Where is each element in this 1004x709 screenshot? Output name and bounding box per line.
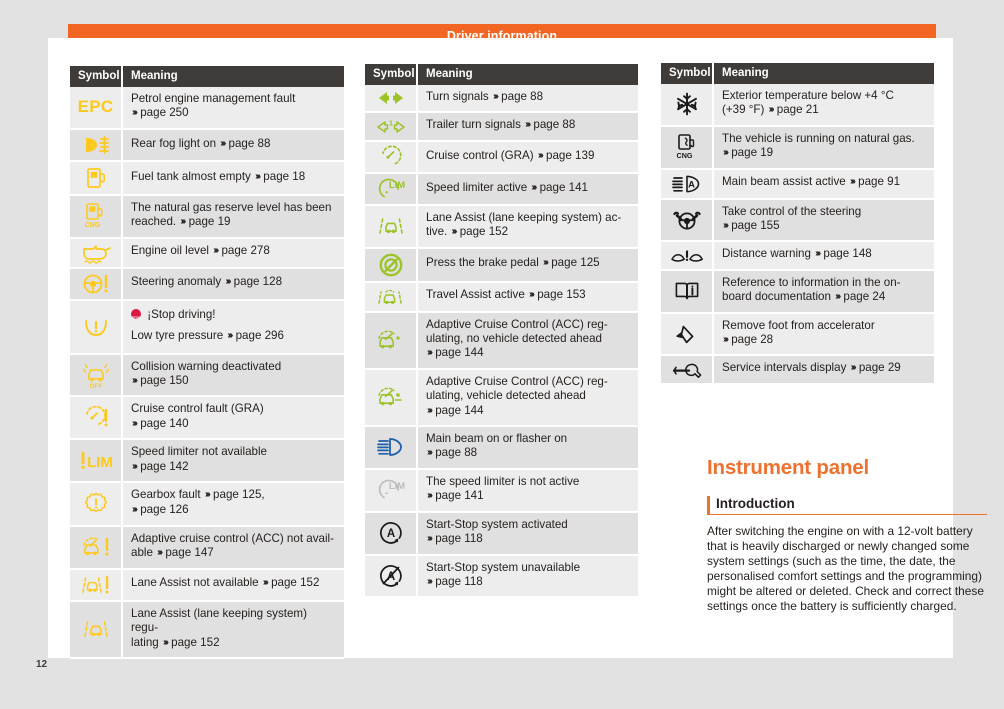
table-row: Gearbox fault ››› page 125,››› page 126 [70,483,344,527]
meaning-line: Cruise control fault (GRA) [131,402,336,416]
meaning-line: ››› page 142 [131,460,336,475]
meaning-line: ››› page 150 [131,374,336,389]
main-beam-icon [365,427,418,468]
meaning-line: ulating, vehicle detected ahead [426,389,630,403]
table-row: AMain beam assist active ››› page 91 [661,170,934,200]
cng-reserve-icon: CNG [70,196,123,237]
meaning-line: The vehicle is running on natural gas. [722,132,926,146]
table-row: Take control of the steering››› page 155 [661,200,934,243]
remove-foot-accelerator-icon [661,314,714,355]
page-ref-arrows: ››› [834,290,840,304]
meaning-line: ››› page 144 [426,346,630,361]
meaning-line: Fuel tank almost empty ››› page 18 [131,170,336,185]
meaning-cell: Start-Stop system unavailable››› page 11… [418,556,638,597]
table-row: Travel Assist active ››› page 153 [365,283,638,313]
lane-assist-na-icon [70,570,123,600]
meaning-cell: Lane Assist (lane keeping system) regu-l… [123,602,344,657]
column-header-meaning: Meaning [123,66,344,87]
table-row: Lane Assist not available ››› page 152 [70,570,344,602]
meaning-line: ¡Stop driving! [131,308,336,322]
steering-anomaly-icon [70,269,123,299]
meaning-cell: Speed limiter active ››› page 141 [418,174,638,204]
section-heading-block: Introduction [707,496,987,515]
meaning-cell: The speed limiter is not active››› page … [418,470,638,511]
onboard-documentation-icon [661,271,714,312]
page-ref-arrows: ››› [131,106,137,120]
meaning-cell: Take control of the steering››› page 155 [714,200,934,241]
meaning-line: Reference to information in the on- [722,276,926,290]
meaning-line: Service intervals display ››› page 29 [722,361,926,376]
meaning-line: Travel Assist active ››› page 153 [426,288,630,303]
page-ref-arrows: ››› [156,546,162,560]
meaning-line: ››› page 141 [426,489,630,504]
table-row: Turn signals ››› page 88 [365,85,638,113]
meaning-cell: Adaptive cruise control (ACC) not avail-… [123,527,344,568]
meaning-cell: Lane Assist not available ››› page 152 [123,570,344,600]
speed-limiter-active-icon: LIM [365,174,418,204]
meaning-line: Adaptive cruise control (ACC) not avail- [131,532,336,546]
meaning-line: ››› page 155 [722,219,926,234]
lane-assist-reg-icon [70,602,123,657]
svg-text:CNG: CNG [84,222,100,229]
page-ref-arrows: ››› [262,576,268,590]
take-control-steering-icon [661,200,714,241]
page-ref-arrows: ››› [131,374,137,388]
meaning-line: ››› page 250 [131,106,336,121]
table-row: Cruise control fault (GRA)››› page 140 [70,397,344,440]
meaning-line: Turn signals ››› page 88 [426,90,630,105]
meaning-line: (+39 °F) ››› page 21 [722,103,926,118]
table-row: Exterior temperature below +4 °C(+39 °F)… [661,84,934,127]
meaning-cell: Main beam assist active ››› page 91 [714,170,934,198]
table-row: Press the brake pedal ››› page 125 [365,249,638,283]
page-ref-arrows: ››› [537,149,543,163]
start-stop-active-icon: A [365,513,418,554]
page-ref-arrows: ››› [179,215,185,229]
meaning-line: Adaptive Cruise Control (ACC) reg- [426,318,630,332]
meaning-cell: Service intervals display ››› page 29 [714,356,934,382]
page-ref-arrows: ››› [492,90,498,104]
meaning-line: ››› page 88 [426,446,630,461]
page-ref-arrows: ››› [426,489,432,503]
page-ref-arrows: ››› [524,118,530,132]
table-row: Distance warning ››› page 148 [661,242,934,270]
collision-warning-off-icon: OFF [70,355,123,396]
table-row: Rear fog light on ››› page 88 [70,130,344,162]
lane-assist-active-icon [365,206,418,247]
page-ref-arrows: ››› [542,256,548,270]
table-row: Cruise control (GRA) ››› page 139 [365,142,638,174]
tyre-pressure-icon [70,301,123,353]
column-header-symbol: Symbol [365,64,418,85]
meaning-line: ››› page 118 [426,575,630,590]
meaning-cell: Adaptive Cruise Control (ACC) reg-ulatin… [418,313,638,368]
column-header-symbol: Symbol [661,63,714,84]
travel-assist-icon [365,283,418,311]
svg-text:A: A [386,528,394,540]
meaning-cell: ¡Stop driving!Low tyre pressure ››› page… [123,301,344,353]
meaning-cell: Press the brake pedal ››› page 125 [418,249,638,281]
table-header-row: SymbolMeaning [365,64,638,85]
trailer-turn-signals-icon: 1 [365,113,418,139]
table-row: LIMSpeed limiter active ››› page 141 [365,174,638,206]
table-row: LIMThe speed limiter is not active››› pa… [365,470,638,513]
cruise-control-icon [365,142,418,172]
meaning-line: Engine oil level ››› page 278 [131,244,336,259]
turn-signals-icon [365,85,418,111]
table-warning-lamps-yellow: SymbolMeaningEPCPetrol engine management… [70,66,344,659]
svg-text:LIM: LIM [87,454,113,471]
snowflake-icon [661,84,714,125]
meaning-line: Remove foot from accelerator [722,319,926,333]
table-row: Steering anomaly ››› page 128 [70,269,344,301]
start-stop-unavailable-icon: A [365,556,418,597]
svg-text:OFF: OFF [89,383,102,389]
manual-page: SymbolMeaningEPCPetrol engine management… [48,38,953,658]
page-ref-arrows: ››› [131,460,137,474]
service-intervals-icon [661,356,714,382]
meaning-line: The speed limiter is not active [426,475,630,489]
meaning-cell: The natural gas reserve level has beenre… [123,196,344,237]
acc-not-available-icon [70,527,123,568]
section-heading: Introduction [716,496,987,511]
meaning-line: ››› page 144 [426,404,630,419]
meaning-cell: Remove foot from accelerator››› page 28 [714,314,934,355]
meaning-line: Press the brake pedal ››› page 125 [426,256,630,271]
table-row: Lane Assist (lane keeping system) regu-l… [70,602,344,659]
article-instrument-panel: Instrument panel Introduction After swit… [707,456,987,613]
table-header-row: SymbolMeaning [661,63,934,84]
press-brake-pedal-icon [365,249,418,281]
meaning-line: tive. ››› page 152 [426,225,630,240]
meaning-cell: Speed limiter not available››› page 142 [123,440,344,481]
meaning-line: Start-Stop system unavailable [426,561,630,575]
meaning-line: Trailer turn signals ››› page 88 [426,118,630,133]
table-row: CNGThe natural gas reserve level has bee… [70,196,344,239]
table-row: Adaptive cruise control (ACC) not avail-… [70,527,344,570]
article-body: After switching the engine on with a 12-… [707,524,987,613]
rear-fog-light-icon [70,130,123,160]
page-ref-arrows: ››› [162,636,168,650]
meaning-cell: Distance warning ››› page 148 [714,242,934,268]
page-ref-arrows: ››› [426,575,432,589]
table-info-lamps-black: SymbolMeaningExterior temperature below … [661,63,934,385]
page-ref-arrows: ››› [768,103,774,117]
meaning-line: Steering anomaly ››› page 128 [131,275,336,290]
cng-running-icon: CNG [661,127,714,168]
meaning-line: Main beam on or flasher on [426,432,630,446]
meaning-cell: Cruise control (GRA) ››› page 139 [418,142,638,172]
meaning-cell: Trailer turn signals ››› page 88 [418,113,638,139]
meaning-cell: Rear fog light on ››› page 88 [123,130,344,160]
table-row: 1Trailer turn signals ››› page 88 [365,113,638,141]
meaning-line: ››› page 28 [722,333,926,348]
page-ref-arrows: ››› [814,247,820,261]
table-row: Service intervals display ››› page 29 [661,356,934,384]
meaning-cell: Fuel tank almost empty ››› page 18 [123,162,344,194]
meaning-line: Rear fog light on ››› page 88 [131,137,336,152]
stop-driving-badge-icon [131,309,141,319]
page-ref-arrows: ››› [426,404,432,418]
table-row: Adaptive Cruise Control (ACC) reg-ulatin… [365,370,638,427]
table-row: Remove foot from accelerator››› page 28 [661,314,934,357]
meaning-cell: Turn signals ››› page 88 [418,85,638,111]
meaning-line: board documentation ››› page 24 [722,290,926,305]
svg-text:LIM: LIM [388,481,404,492]
table-row: Engine oil level ››› page 278 [70,239,344,269]
table-row: Reference to information in the on-board… [661,271,934,314]
article-title: Instrument panel [707,456,987,480]
page-ref-arrows: ››› [530,181,536,195]
page-ref-arrows: ››› [219,137,225,151]
meaning-line: Speed limiter active ››› page 141 [426,181,630,196]
meaning-line: Main beam assist active ››› page 91 [722,175,926,190]
meaning-line: Take control of the steering [722,205,926,219]
svg-text:CNG: CNG [676,151,692,160]
meaning-cell: Reference to information in the on-board… [714,271,934,312]
meaning-line: Lane Assist (lane keeping system) ac- [426,211,630,225]
table-row: Adaptive Cruise Control (ACC) reg-ulatin… [365,313,638,370]
meaning-cell: Steering anomaly ››› page 128 [123,269,344,299]
acc-vehicle-icon [365,370,418,425]
page-ref-arrows: ››› [426,346,432,360]
meaning-line: The natural gas reserve level has been [131,201,336,215]
meaning-line: lating ››› page 152 [131,636,336,651]
meaning-line: ››› page 118 [426,532,630,547]
cruise-control-fault-icon [70,397,123,438]
column-header-meaning: Meaning [418,64,638,85]
meaning-line: able ››› page 147 [131,546,336,561]
table-row: EPCPetrol engine management fault››› pag… [70,87,344,130]
meaning-line: ››› page 19 [722,146,926,161]
meaning-line: Collision warning deactivated [131,360,336,374]
meaning-line: Start-Stop system activated [426,518,630,532]
meaning-line: Gearbox fault ››› page 125, [131,488,336,503]
page-ref-arrows: ››› [426,446,432,460]
meaning-cell: Adaptive Cruise Control (ACC) reg-ulatin… [418,370,638,425]
table-row: AStart-Stop system activated››› page 118 [365,513,638,556]
table-row: Lane Assist (lane keeping system) ac-tiv… [365,206,638,249]
meaning-cell: Collision warning deactivated››› page 15… [123,355,344,396]
meaning-cell: The vehicle is running on natural gas.››… [714,127,934,168]
meaning-line: ››› page 126 [131,503,336,518]
page-ref-arrows: ››› [212,244,218,258]
page-ref-arrows: ››› [224,275,230,289]
meaning-line: Low tyre pressure ››› page 296 [131,329,336,344]
meaning-line: Distance warning ››› page 148 [722,247,926,262]
meaning-cell: Travel Assist active ››› page 153 [418,283,638,311]
meaning-cell: Exterior temperature below +4 °C(+39 °F)… [714,84,934,125]
meaning-line: Speed limiter not available [131,445,336,459]
meaning-cell: Lane Assist (lane keeping system) ac-tiv… [418,206,638,247]
distance-warning-icon [661,242,714,268]
svg-text:A: A [688,178,695,189]
meaning-cell: Gearbox fault ››› page 125,››› page 126 [123,483,344,525]
page-ref-arrows: ››› [426,532,432,546]
meaning-line: Petrol engine management fault [131,92,336,106]
acc-no-vehicle-icon [365,313,418,368]
page-ref-arrows: ››› [722,146,728,160]
column-header-meaning: Meaning [714,63,934,84]
table-row: OFFCollision warning deactivated››› page… [70,355,344,398]
meaning-line: Adaptive Cruise Control (ACC) reg- [426,375,630,389]
page-ref-arrows: ››› [722,333,728,347]
column-header-symbol: Symbol [70,66,123,87]
meaning-line: Lane Assist (lane keeping system) regu- [131,607,336,636]
page-ref-arrows: ››› [131,417,137,431]
table-row: Main beam on or flasher on››› page 88 [365,427,638,470]
speed-limiter-na-icon: LIM [70,440,123,481]
page-ref-arrows: ››› [849,175,855,189]
meaning-line: Lane Assist not available ››› page 152 [131,576,336,591]
engine-oil-level-icon [70,239,123,267]
epc-icon: EPC [70,87,123,128]
table-row: ¡Stop driving!Low tyre pressure ››› page… [70,301,344,355]
fuel-tank-icon [70,162,123,194]
table-row: CNGThe vehicle is running on natural gas… [661,127,934,170]
page-ref-arrows: ››› [850,361,856,375]
svg-text:1: 1 [389,120,393,127]
meaning-cell: Petrol engine management fault››› page 2… [123,87,344,128]
page-ref-arrows: ››› [528,288,534,302]
page-ref-arrows: ››› [450,225,456,239]
meaning-cell: Main beam on or flasher on››› page 88 [418,427,638,468]
meaning-line: Exterior temperature below +4 °C [722,89,926,103]
table-row: LIMSpeed limiter not available››› page 1… [70,440,344,483]
meaning-line: ››› page 140 [131,417,336,432]
table-row: AStart-Stop system unavailable››› page 1… [365,556,638,599]
main-beam-assist-icon: A [661,170,714,198]
page-ref-arrows: ››› [254,170,260,184]
gearbox-fault-icon [70,483,123,525]
table-row: Fuel tank almost empty ››› page 18 [70,162,344,196]
page-ref-arrows: ››› [131,503,137,517]
meaning-line: ulating, no vehicle detected ahead [426,332,630,346]
table-header-row: SymbolMeaning [70,66,344,87]
page-ref-arrows: ››› [226,329,232,343]
meaning-line: Cruise control (GRA) ››› page 139 [426,149,630,164]
meaning-cell: Start-Stop system activated››› page 118 [418,513,638,554]
page-ref-arrows: ››› [204,488,210,502]
speed-limiter-inactive-icon: LIM [365,470,418,511]
svg-text:LIM: LIM [388,180,404,191]
table-indicator-lamps-green: SymbolMeaningTurn signals ››› page 881Tr… [365,64,638,598]
meaning-cell: Engine oil level ››› page 278 [123,239,344,267]
page-number: 12 [36,659,47,670]
meaning-line: reached. ››› page 19 [131,215,336,230]
page-ref-arrows: ››› [722,219,728,233]
meaning-cell: Cruise control fault (GRA)››› page 140 [123,397,344,438]
